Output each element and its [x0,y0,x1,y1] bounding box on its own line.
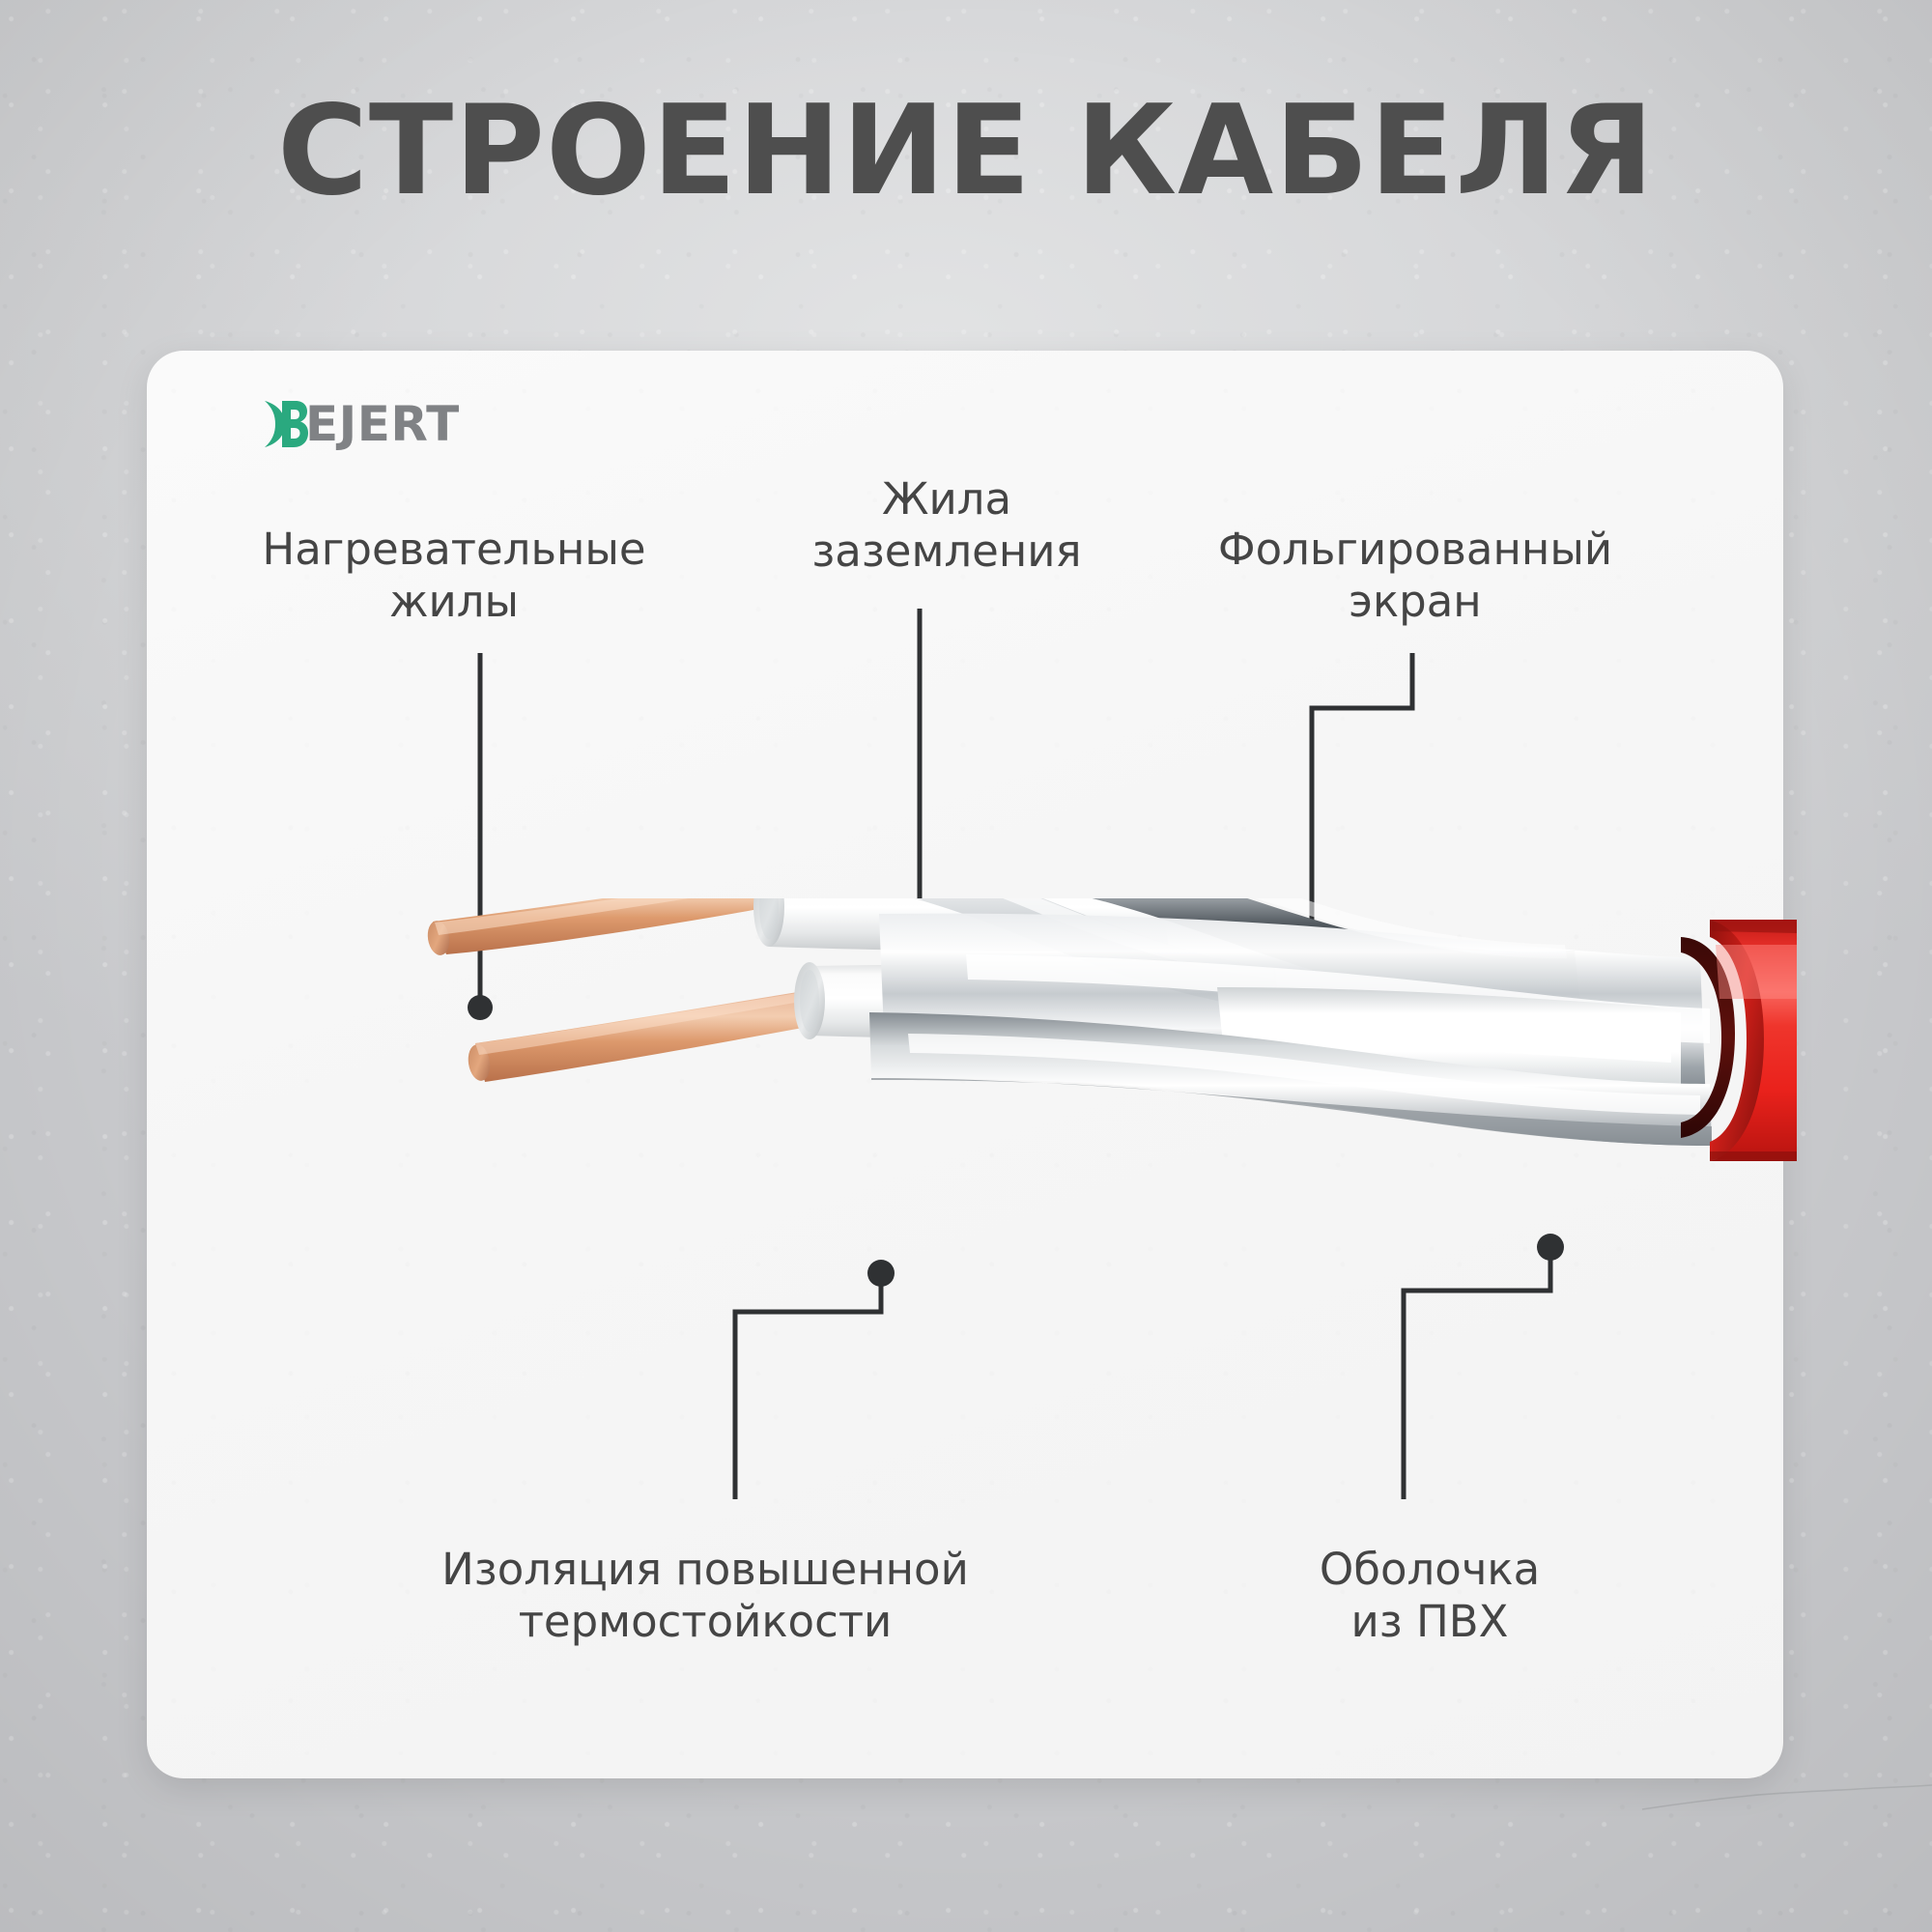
page-title: СТРОЕНИЕ КАБЕЛЯ [0,90,1932,213]
heating-core-upper [425,898,775,956]
callout-label-heating-cores: Нагревательные жилы [184,524,724,627]
callout-label-pvc-sheath: Оболочка из ПВХ [1217,1544,1642,1647]
poster-root: СТРОЕНИЕ КАБЕЛЯ EJERT Нагревательные жил… [0,0,1932,1932]
heating-cable-cutaway-illustration [425,898,1797,1275]
brand-logo: EJERT [259,394,460,454]
callout-label-heat-insulation: Изоляция повышенной термостойкости [348,1544,1063,1647]
callout-label-ground-core: Жила заземления [734,473,1159,577]
heating-core-lower [466,991,813,1082]
brand-name: EJERT [305,400,460,448]
callout-label-foil-shield: Фольгированный экран [1150,524,1681,627]
concrete-crack [1642,1782,1932,1821]
bejert-b-mark-icon [259,398,309,450]
